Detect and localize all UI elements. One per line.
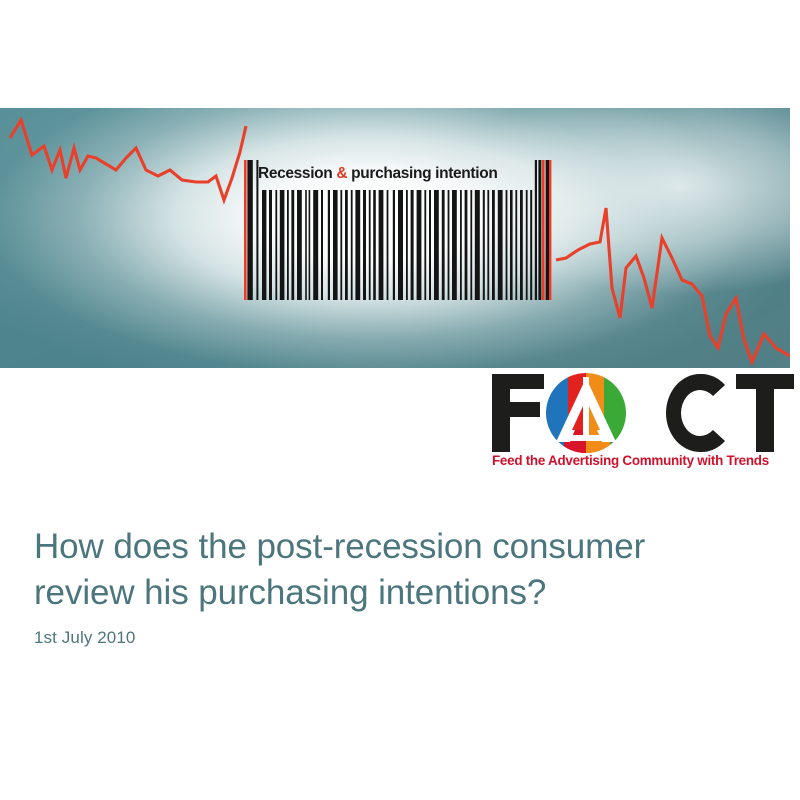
barcode-title-ampersand: & [336,165,347,182]
letter-f [492,374,544,452]
chart-line-right [556,208,790,362]
presentation-date: 1st July 2010 [34,628,135,648]
chart-line-left [10,120,246,200]
page-title-line-2: review his purchasing intentions? [34,573,546,612]
fact-tagline: Feed the Advertising Community with Tren… [492,454,796,469]
barcode-title: Recession & purchasing intention [258,166,544,182]
letter-t [736,374,794,452]
fact-logo: Feed the Advertising Community with Tren… [490,372,796,480]
barcode-title-part-2: purchasing intention [347,165,497,182]
barcode-guard-far-right [549,160,551,300]
page-title: How does the post-recession consumerrevi… [34,524,754,615]
fact-wordmark-svg [490,372,796,454]
barcode-title-part-1: Recession [258,165,336,182]
letter-c [666,374,725,452]
barcode-guard-left [244,160,247,300]
page-title-line-1: How does the post-recession consumer [34,527,645,566]
fact-wordmark [490,372,796,454]
slide-canvas: Recession & purchasing intention [0,0,800,800]
fact-a-emblem [546,373,626,453]
